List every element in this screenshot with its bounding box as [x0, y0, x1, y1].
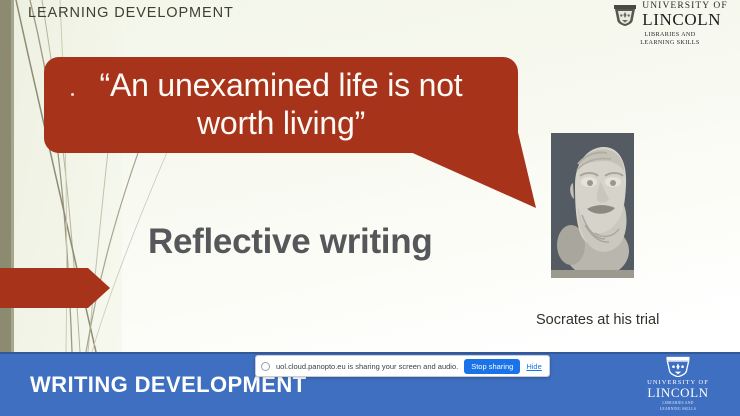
- quote-speech-bubble: “An unexamined life is not worth living”: [44, 57, 518, 153]
- share-message: uol.cloud.panopto.eu is sharing your scr…: [276, 362, 458, 371]
- logo-lincoln-line: LINCOLN: [642, 11, 727, 28]
- quote-bullet-dot: [71, 93, 74, 96]
- slide-header-title: LEARNING DEVELOPMENT: [28, 5, 234, 21]
- slide-main-heading: Reflective writing: [148, 222, 432, 262]
- logo-lincoln-line: LINCOLN: [647, 386, 708, 399]
- quote-text: “An unexamined life is not worth living”: [44, 67, 518, 143]
- red-arrow-banner: [0, 268, 110, 308]
- presentation-slide: LEARNING DEVELOPMENT UNIVERSITY OF LINCO…: [0, 0, 740, 416]
- logo-subtitle: LIBRARIES ANDLEARNING SKILLS: [640, 31, 699, 47]
- logo-subtitle: LIBRARIES ANDLEARNING SKILLS: [660, 401, 696, 412]
- hide-link[interactable]: Hide: [526, 362, 543, 371]
- socrates-bust-image: [551, 133, 634, 278]
- screen-share-notification: uol.cloud.panopto.eu is sharing your scr…: [255, 355, 550, 377]
- image-caption: Socrates at his trial: [536, 312, 659, 328]
- screen-share-indicator-icon: [261, 362, 270, 371]
- lincoln-crest-icon: [661, 356, 695, 377]
- lincoln-crest-icon: [612, 3, 638, 27]
- university-logo-footer: UNIVERSITY OF LINCOLN LIBRARIES ANDLEARN…: [630, 356, 726, 412]
- university-logo-top: UNIVERSITY OF LINCOLN LIBRARIES ANDLEARN…: [608, 2, 732, 50]
- footer-top-edge: [0, 352, 740, 354]
- stop-sharing-button[interactable]: Stop sharing: [464, 359, 520, 374]
